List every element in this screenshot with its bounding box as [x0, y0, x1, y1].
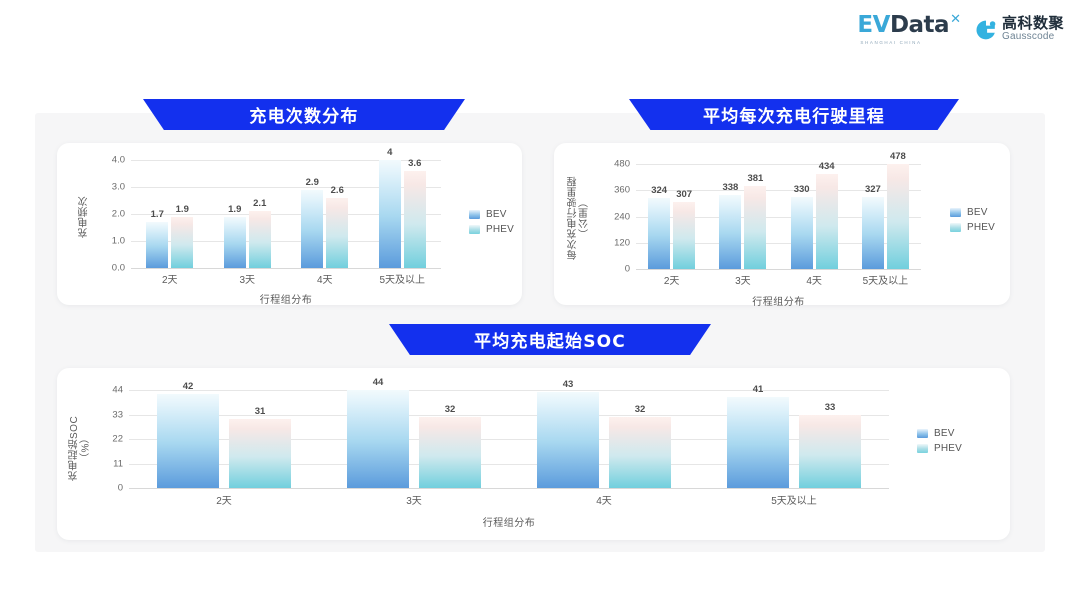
bar-wrapper: 478 [887, 164, 909, 269]
bar-wrapper: 3.6 [404, 160, 426, 268]
logo-bar: EVData ✕ SHANGHAI CHINA 高科数聚 Gausscode [857, 14, 1064, 45]
bar-wrapper: 31 [229, 390, 291, 488]
chart-avg-range-per-charge: 每次充电行驶里程 （公里） 4803602401200 324307338381… [554, 143, 1010, 305]
chart-avg-start-soc: 充电起始SOC （%） 443322110 4231443243324133 2… [57, 368, 1010, 540]
evdata-wordmark-ev: EV [857, 12, 890, 38]
bar-wrapper: 32 [609, 390, 671, 488]
bar-group: 4133 [699, 390, 889, 488]
legend-label: BEV [934, 428, 955, 439]
bar-phev[interactable]: 2.1 [249, 211, 271, 268]
bar-wrapper: 1.9 [224, 160, 246, 268]
chart2-plot-area: 324307338381330434327478 [636, 164, 921, 269]
bar-value-label: 1.9 [228, 204, 241, 215]
chart1-x-axis-ticks: 2天3天4天5天及以上 [131, 271, 441, 286]
x-tick-label: 4天 [779, 272, 850, 287]
bar-wrapper: 2.9 [301, 160, 323, 268]
bar-phev[interactable]: 381 [744, 186, 766, 269]
bar-phev[interactable]: 31 [229, 419, 291, 488]
bar-group: 327478 [850, 164, 921, 269]
y-tick-label: 0 [118, 483, 123, 494]
bar-group: 4432 [319, 390, 509, 488]
x-axis-line [636, 269, 921, 270]
chart-banner-avg-start-soc: 平均充电起始SOC [389, 324, 711, 355]
gausscode-name-cn: 高科数聚 [1002, 16, 1064, 32]
gausscode-logo: 高科数聚 Gausscode [975, 16, 1064, 42]
legend-item-bev[interactable]: BEV [950, 207, 995, 218]
bar-wrapper: 33 [799, 390, 861, 488]
chart3-legend: BEVPHEV [917, 428, 962, 454]
bar-bev[interactable]: 324 [648, 198, 670, 269]
chart-banner-title-2: 平均每次充电行驶里程 [703, 102, 885, 127]
legend-label: PHEV [486, 224, 514, 235]
x-tick-label: 2天 [131, 271, 209, 286]
bar-bev[interactable]: 327 [862, 197, 884, 269]
bar-group: 330434 [779, 164, 850, 269]
bar-bev[interactable]: 43 [537, 392, 599, 488]
bar-wrapper: 327 [862, 164, 884, 269]
y-tick-label: 360 [614, 185, 630, 196]
y-tick-label: 1.0 [112, 236, 125, 247]
legend-swatch-phev [950, 223, 961, 232]
x-tick-label: 3天 [319, 492, 509, 507]
bar-phev[interactable]: 3.6 [404, 171, 426, 268]
legend-item-phev[interactable]: PHEV [917, 443, 962, 454]
x-tick-label: 3天 [707, 272, 778, 287]
bar-phev[interactable]: 32 [419, 417, 481, 488]
legend-label: PHEV [934, 443, 962, 454]
bar-group: 338381 [707, 164, 778, 269]
bar-wrapper: 381 [744, 164, 766, 269]
bar-wrapper: 44 [347, 390, 409, 488]
gausscode-name-en: Gausscode [1002, 32, 1064, 43]
chart2-x-axis-label: 行程组分布 [636, 293, 921, 308]
evdata-logo-row: EVData ✕ [857, 14, 961, 37]
bar-phev[interactable]: 32 [609, 417, 671, 488]
chart-banner-charging-frequency: 充电次数分布 [143, 99, 465, 130]
bar-wrapper: 42 [157, 390, 219, 488]
bar-value-label: 2.9 [306, 177, 319, 188]
bar-wrapper: 330 [791, 164, 813, 269]
bar-phev[interactable]: 478 [887, 164, 909, 269]
x-tick-label: 3天 [209, 271, 287, 286]
x-tick-label: 5天及以上 [364, 271, 442, 286]
y-tick-label: 120 [614, 237, 630, 248]
chart3-x-axis-ticks: 2天3天4天5天及以上 [129, 492, 889, 507]
bar-bev[interactable]: 42 [157, 394, 219, 488]
legend-label: BEV [486, 209, 507, 220]
y-tick-label: 4.0 [112, 155, 125, 166]
gausscode-mark-icon [975, 19, 997, 41]
bar-series-container: 324307338381330434327478 [636, 164, 921, 269]
chart-banner-avg-range-per-charge: 平均每次充电行驶里程 [629, 99, 959, 130]
bar-value-label: 42 [183, 381, 194, 392]
bar-wrapper: 32 [419, 390, 481, 488]
bar-group: 324307 [636, 164, 707, 269]
bar-bev[interactable]: 338 [719, 195, 741, 269]
y-tick-label: 11 [113, 458, 123, 469]
legend-swatch-bev [917, 429, 928, 438]
bar-wrapper: 434 [816, 164, 838, 269]
evdata-logo: EVData ✕ SHANGHAI CHINA [857, 14, 961, 45]
legend-item-phev[interactable]: PHEV [950, 222, 995, 233]
bar-value-label: 32 [445, 404, 456, 415]
chart2-legend: BEVPHEV [950, 207, 995, 233]
x-tick-label: 2天 [636, 272, 707, 287]
bar-bev[interactable]: 1.9 [224, 217, 246, 268]
bar-phev[interactable]: 33 [799, 415, 861, 489]
y-tick-label: 44 [112, 385, 123, 396]
evdata-wordmark: EVData [857, 14, 949, 37]
slide-page: EVData ✕ SHANGHAI CHINA 高科数聚 Gausscode 充… [0, 0, 1080, 608]
bar-value-label: 32 [635, 404, 646, 415]
chart3-y-axis-ticks: 443322110 [99, 390, 123, 488]
bar-wrapper: 43 [537, 390, 599, 488]
bar-wrapper: 1.9 [171, 160, 193, 268]
legend-label: BEV [967, 207, 988, 218]
x-tick-label: 5天及以上 [699, 492, 889, 507]
bar-value-label: 4 [387, 147, 392, 158]
chart-banner-title-3: 平均充电起始SOC [474, 327, 626, 352]
bar-value-label: 381 [747, 173, 763, 184]
evdata-wordmark-data: Data [890, 12, 949, 38]
bar-value-label: 43 [563, 379, 574, 390]
chart3-plot-area: 4231443243324133 [129, 390, 889, 488]
bar-phev[interactable]: 2.6 [326, 198, 348, 268]
bar-phev[interactable]: 307 [673, 202, 695, 269]
bar-value-label: 434 [819, 161, 835, 172]
bar-wrapper: 41 [727, 390, 789, 488]
bar-series-container: 1.71.91.92.12.92.643.6 [131, 160, 441, 268]
bar-value-label: 478 [890, 151, 906, 162]
legend-item-bev[interactable]: BEV [469, 209, 514, 220]
chart-charging-frequency: 充电频次 4.03.02.01.00.0 1.71.91.92.12.92.64… [57, 143, 522, 305]
legend-swatch-phev [469, 225, 480, 234]
bar-value-label: 2.6 [331, 185, 344, 196]
bar-group: 1.92.1 [209, 160, 287, 268]
bar-wrapper: 4 [379, 160, 401, 268]
bar-value-label: 3.6 [408, 158, 421, 169]
bar-value-label: 307 [676, 189, 692, 200]
bar-bev[interactable]: 1.7 [146, 222, 168, 268]
bar-group: 4231 [129, 390, 319, 488]
bar-phev[interactable]: 434 [816, 174, 838, 269]
bar-group: 1.71.9 [131, 160, 209, 268]
chart-banner-title-1: 充电次数分布 [249, 102, 358, 127]
x-tick-label: 2天 [129, 492, 319, 507]
x-axis-line [129, 488, 889, 489]
y-tick-label: 2.0 [112, 209, 125, 220]
bar-value-label: 327 [865, 184, 881, 195]
bar-wrapper: 338 [719, 164, 741, 269]
bar-wrapper: 1.7 [146, 160, 168, 268]
chart1-y-axis-ticks: 4.03.02.01.00.0 [95, 160, 125, 268]
bar-group: 2.92.6 [286, 160, 364, 268]
chart1-y-axis-label: 充电频次 [79, 165, 93, 270]
bar-value-label: 2.1 [253, 198, 266, 209]
bar-value-label: 1.7 [151, 209, 164, 220]
x-tick-label: 5天及以上 [850, 272, 921, 287]
bar-value-label: 324 [651, 185, 667, 196]
chart1-plot-area: 1.71.91.92.12.92.643.6 [131, 160, 441, 268]
chart2-y-axis-label: 每次充电行驶里程 （公里） [568, 161, 596, 276]
bar-value-label: 330 [794, 184, 810, 195]
bar-group: 43.6 [364, 160, 442, 268]
legend-label: PHEV [967, 222, 995, 233]
bar-bev[interactable]: 2.9 [301, 190, 323, 268]
bar-series-container: 4231443243324133 [129, 390, 889, 488]
y-tick-label: 22 [112, 434, 123, 445]
bar-value-label: 44 [373, 377, 384, 388]
y-tick-label: 0.0 [112, 263, 125, 274]
chart2-y-axis-ticks: 4803602401200 [598, 164, 630, 269]
y-tick-label: 0 [625, 264, 630, 275]
gausscode-text: 高科数聚 Gausscode [1002, 16, 1064, 42]
legend-item-phev[interactable]: PHEV [469, 224, 514, 235]
bar-bev[interactable]: 41 [727, 397, 789, 488]
bar-bev[interactable]: 44 [347, 390, 409, 488]
chart2-x-axis-ticks: 2天3天4天5天及以上 [636, 272, 921, 287]
x-tick-label: 4天 [509, 492, 699, 507]
x-tick-label: 4天 [286, 271, 364, 286]
legend-swatch-bev [469, 210, 480, 219]
evdata-tagline: SHANGHAI CHINA [860, 40, 921, 45]
legend-item-bev[interactable]: BEV [917, 428, 962, 439]
chart1-x-axis-label: 行程组分布 [131, 291, 441, 306]
legend-swatch-phev [917, 444, 928, 453]
chart3-y-axis-label: 充电起始SOC （%） [69, 388, 97, 508]
chart1-legend: BEVPHEV [469, 209, 514, 235]
bar-value-label: 1.9 [176, 204, 189, 215]
x-axis-line [131, 268, 441, 269]
bar-wrapper: 2.6 [326, 160, 348, 268]
y-tick-label: 3.0 [112, 182, 125, 193]
bar-bev[interactable]: 330 [791, 197, 813, 269]
evdata-x-icon: ✕ [950, 11, 961, 27]
bar-value-label: 33 [825, 402, 836, 413]
y-tick-label: 480 [614, 159, 630, 170]
legend-swatch-bev [950, 208, 961, 217]
bar-bev[interactable]: 4 [379, 160, 401, 268]
bar-value-label: 338 [722, 182, 738, 193]
y-tick-label: 33 [112, 409, 123, 420]
bar-group: 4332 [509, 390, 699, 488]
chart3-x-axis-label: 行程组分布 [129, 514, 889, 529]
bar-wrapper: 2.1 [249, 160, 271, 268]
bar-wrapper: 307 [673, 164, 695, 269]
bar-wrapper: 324 [648, 164, 670, 269]
bar-phev[interactable]: 1.9 [171, 217, 193, 268]
bar-value-label: 41 [753, 384, 764, 395]
bar-value-label: 31 [255, 406, 266, 417]
y-tick-label: 240 [614, 211, 630, 222]
